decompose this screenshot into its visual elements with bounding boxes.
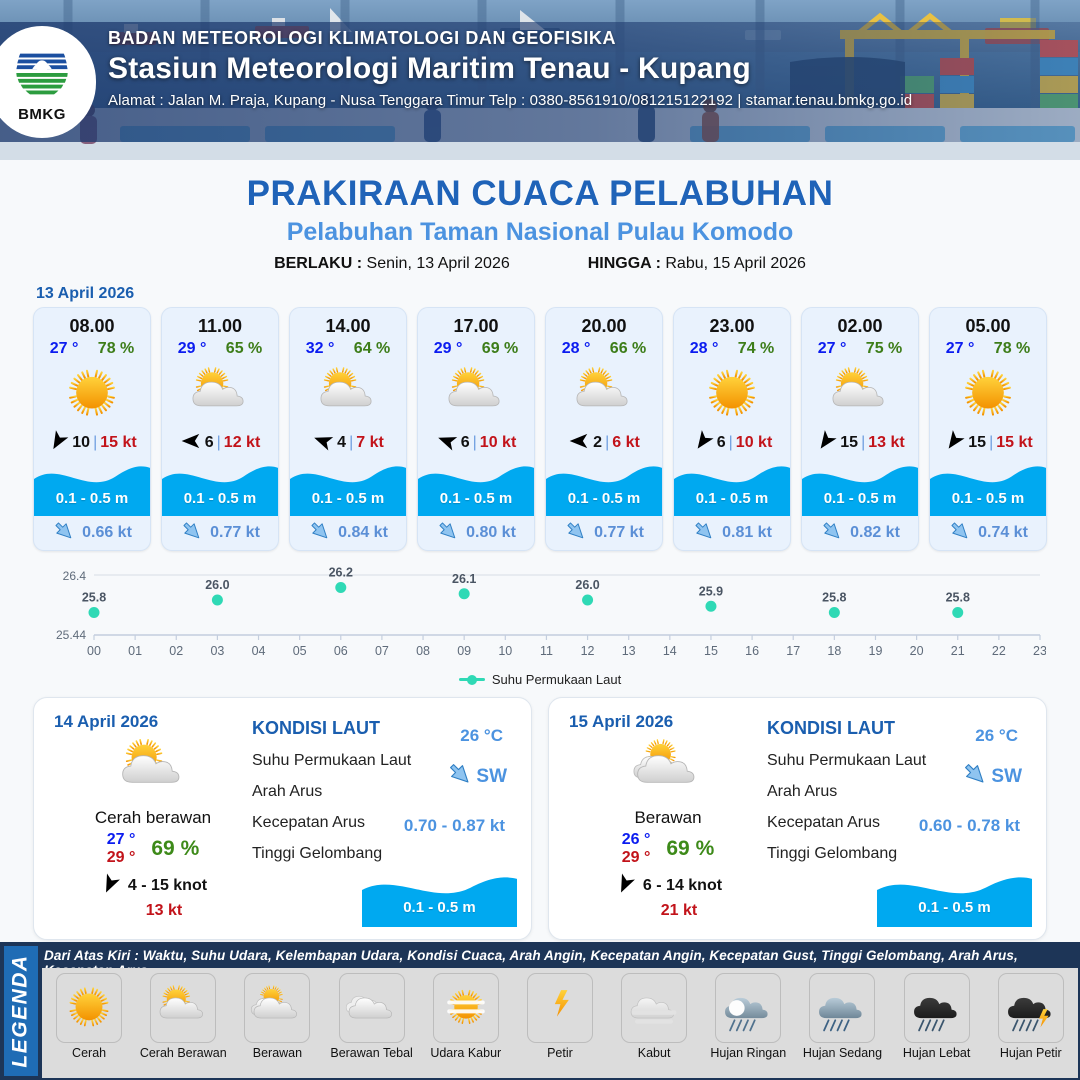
card-weather-cerah-icon <box>674 360 790 428</box>
card-wind: 6 | 12 kt <box>162 428 278 458</box>
card-humidity: 65 % <box>226 340 262 358</box>
card-wave-height: 0.1 - 0.5 m <box>290 490 406 507</box>
svg-text:00: 00 <box>87 644 101 658</box>
sea-current-direction-value: SW <box>991 766 1022 788</box>
current-direction-arrow-icon <box>692 519 716 548</box>
card-wave-height: 0.1 - 0.5 m <box>546 490 662 507</box>
card-temp-hum: 28 ° 74 % <box>674 337 790 358</box>
legend-item-label: Udara Kabur <box>421 1046 511 1060</box>
svg-text:06: 06 <box>334 644 348 658</box>
svg-text:05: 05 <box>293 644 307 658</box>
day-gust: 21 kt <box>569 902 767 920</box>
legenda-title: LEGENDA <box>9 954 33 1067</box>
card-temp-hum: 32 ° 64 % <box>290 337 406 358</box>
hourly-card: 05.00 27 ° 78 % 15 | 15 kt 0.1 - 0.5 m 0… <box>929 307 1047 551</box>
legend-item: Hujan Petir <box>986 973 1076 1060</box>
card-gust: 15 kt <box>100 434 136 452</box>
legend-kabut-icon <box>621 973 687 1043</box>
svg-text:25.44: 25.44 <box>56 628 86 642</box>
legend-item-label: Cerah <box>44 1046 134 1060</box>
svg-text:16: 16 <box>745 644 759 658</box>
card-wind: 6 | 10 kt <box>674 428 790 458</box>
svg-text:22: 22 <box>992 644 1006 658</box>
card-wave-zone: 0.1 - 0.5 m <box>674 460 790 516</box>
card-temperature: 27 ° <box>818 340 847 358</box>
card-current-speed: 0.82 kt <box>850 524 900 542</box>
card-wave-zone: 0.1 - 0.5 m <box>802 460 918 516</box>
banner-text-block: BADAN METEOROLOGI KLIMATOLOGI DAN GEOFIS… <box>108 28 912 109</box>
card-current-speed: 0.77 kt <box>594 524 644 542</box>
day-temp-range: 27 ° 29 ° <box>107 831 136 867</box>
current-direction-arrow-icon <box>820 519 844 548</box>
sea-conditions: KONDISI LAUT Suhu Permukaan Laut Arah Ar… <box>767 698 1046 939</box>
svg-text:19: 19 <box>869 644 883 658</box>
legend-udara-kabur-icon <box>433 973 499 1043</box>
card-current: 0.81 kt <box>674 516 790 550</box>
valid-to: HINGGA : Rabu, 15 April 2026 <box>588 255 806 273</box>
card-separator: | <box>217 434 221 452</box>
day-temp-min: 26 ° <box>622 831 651 849</box>
wind-direction-arrow-icon <box>943 430 965 457</box>
svg-text:26.0: 26.0 <box>205 578 229 592</box>
card-wind-speed: 6 <box>205 434 214 452</box>
svg-text:25.9: 25.9 <box>699 584 723 598</box>
card-wind-speed: 15 <box>840 434 858 452</box>
svg-text:12: 12 <box>581 644 595 658</box>
card-temp-hum: 27 ° 78 % <box>930 337 1046 358</box>
card-separator: | <box>989 434 993 452</box>
legend-item: Petir <box>515 973 605 1060</box>
hourly-forecast-row: 08.00 27 ° 78 % 10 | 15 kt 0.1 - 0.5 m 0… <box>0 307 1080 551</box>
svg-text:18: 18 <box>827 644 841 658</box>
valid-from: BERLAKU : Senin, 13 April 2026 <box>274 255 510 273</box>
header-banner: BMKG BADAN METEOROLOGI KLIMATOLOGI DAN G… <box>0 0 1080 160</box>
card-temperature: 28 ° <box>562 340 591 358</box>
sst-legend-label: Suhu Permukaan Laut <box>492 672 621 687</box>
svg-text:17: 17 <box>786 644 800 658</box>
card-time: 17.00 <box>418 308 534 337</box>
card-time: 08.00 <box>34 308 150 337</box>
legend-item: Hujan Ringan <box>703 973 793 1060</box>
card-temperature: 28 ° <box>690 340 719 358</box>
sea-row-wave-label: Tinggi Gelombang <box>767 845 1030 863</box>
card-gust: 7 kt <box>356 434 384 452</box>
card-weather-cerah-berawan-icon <box>546 360 662 428</box>
card-current-speed: 0.77 kt <box>210 524 260 542</box>
hourly-card: 11.00 29 ° 65 % 6 | 12 kt 0.1 - 0.5 m 0.… <box>161 307 279 551</box>
card-gust: 12 kt <box>224 434 260 452</box>
validity-row: BERLAKU : Senin, 13 April 2026 HINGGA : … <box>0 255 1080 273</box>
card-wind: 4 | 7 kt <box>290 428 406 458</box>
card-wind: 15 | 13 kt <box>802 428 918 458</box>
card-separator: | <box>473 434 477 452</box>
legend-cerah-berawan-icon <box>150 973 216 1043</box>
svg-text:13: 13 <box>622 644 636 658</box>
card-temperature: 32 ° <box>306 340 335 358</box>
card-temperature: 29 ° <box>178 340 207 358</box>
wind-direction-arrow-icon <box>614 873 636 900</box>
legend-item: Berawan Tebal <box>327 973 417 1060</box>
card-wave-height: 0.1 - 0.5 m <box>418 490 534 507</box>
valid-to-label: HINGGA : <box>588 255 661 272</box>
bmkg-logo-text: BMKG <box>18 106 66 123</box>
svg-text:25.8: 25.8 <box>946 591 970 605</box>
day-condition: Cerah berawan <box>54 808 252 828</box>
current-direction-arrow-icon <box>308 519 332 548</box>
card-wind-speed: 15 <box>968 434 986 452</box>
bmkg-logo-icon <box>11 41 73 105</box>
wind-direction-arrow-icon <box>180 430 202 457</box>
card-current: 0.77 kt <box>546 516 662 550</box>
card-current-speed: 0.74 kt <box>978 524 1028 542</box>
current-direction-arrow-icon <box>436 519 460 548</box>
legend-item: Hujan Sedang <box>797 973 887 1060</box>
card-time: 23.00 <box>674 308 790 337</box>
wind-direction-arrow-icon <box>692 430 714 457</box>
card-current: 0.74 kt <box>930 516 1046 550</box>
svg-text:03: 03 <box>210 644 224 658</box>
card-current-speed: 0.84 kt <box>338 524 388 542</box>
sea-wave-box: 0.1 - 0.5 m <box>877 871 1032 923</box>
day-date: 15 April 2026 <box>569 712 767 732</box>
legend-item: Hujan Lebat <box>892 973 982 1060</box>
sea-conditions: KONDISI LAUT Suhu Permukaan Laut Arah Ar… <box>252 698 531 939</box>
wind-direction-arrow-icon <box>99 873 121 900</box>
sea-current-speed-value: 0.70 - 0.87 kt <box>404 816 505 836</box>
card-weather-cerah-icon <box>930 360 1046 428</box>
svg-text:26.4: 26.4 <box>63 569 87 583</box>
hourly-card: 17.00 29 ° 69 % 6 | 10 kt 0.1 - 0.5 m 0.… <box>417 307 535 551</box>
legend-item: Kabut <box>609 973 699 1060</box>
svg-text:26.1: 26.1 <box>452 572 476 586</box>
svg-text:08: 08 <box>416 644 430 658</box>
card-wave-height: 0.1 - 0.5 m <box>674 490 790 507</box>
legend-berawan-icon <box>244 973 310 1043</box>
card-wave-zone: 0.1 - 0.5 m <box>930 460 1046 516</box>
svg-text:25.8: 25.8 <box>82 591 106 605</box>
card-humidity: 75 % <box>866 340 902 358</box>
legend-item-label: Hujan Lebat <box>892 1046 982 1060</box>
legend-cerah-icon <box>56 973 122 1043</box>
card-current: 0.84 kt <box>290 516 406 550</box>
day-gust: 13 kt <box>54 902 252 920</box>
card-wave-zone: 0.1 - 0.5 m <box>546 460 662 516</box>
legend-item-label: Hujan Petir <box>986 1046 1076 1060</box>
hourly-card: 14.00 32 ° 64 % 4 | 7 kt 0.1 - 0.5 m 0.8… <box>289 307 407 551</box>
card-wave-zone: 0.1 - 0.5 m <box>418 460 534 516</box>
legend-item-label: Hujan Sedang <box>797 1046 887 1060</box>
card-humidity: 78 % <box>994 340 1030 358</box>
legend-item: Udara Kabur <box>421 973 511 1060</box>
card-humidity: 69 % <box>482 340 518 358</box>
card-weather-cerah-berawan-icon <box>802 360 918 428</box>
card-gust: 10 kt <box>480 434 516 452</box>
svg-text:02: 02 <box>169 644 183 658</box>
sea-row-wave-label: Tinggi Gelombang <box>252 845 515 863</box>
sst-chart: 26.425.440001020304050607080910111213141… <box>34 565 1046 670</box>
day-weather-cerah-berawan-icon <box>54 734 252 804</box>
card-wave-height: 0.1 - 0.5 m <box>802 490 918 507</box>
card-humidity: 78 % <box>98 340 134 358</box>
legend-hujan-petir-icon <box>998 973 1064 1043</box>
current-direction-arrow-icon <box>564 519 588 548</box>
page-subtitle: Pelabuhan Taman Nasional Pulau Komodo <box>0 218 1080 247</box>
sea-wave-height: 0.1 - 0.5 m <box>362 899 517 916</box>
current-direction-arrow-icon <box>961 760 989 794</box>
card-weather-cerah-berawan-icon <box>290 360 406 428</box>
svg-text:23: 23 <box>1033 644 1046 658</box>
wind-direction-arrow-icon <box>312 430 334 457</box>
card-gust: 10 kt <box>736 434 772 452</box>
card-wind-speed: 6 <box>461 434 470 452</box>
card-separator: | <box>349 434 353 452</box>
card-current: 0.77 kt <box>162 516 278 550</box>
card-wave-height: 0.1 - 0.5 m <box>162 490 278 507</box>
card-time: 02.00 <box>802 308 918 337</box>
svg-text:04: 04 <box>252 644 266 658</box>
day-humidity: 69 % <box>666 837 714 861</box>
sea-current-direction: SW <box>446 760 507 794</box>
station-address: Alamat : Jalan M. Praja, Kupang - Nusa T… <box>108 92 912 109</box>
svg-text:21: 21 <box>951 644 965 658</box>
svg-text:11: 11 <box>540 644 553 658</box>
svg-text:09: 09 <box>457 644 471 658</box>
current-direction-arrow-icon <box>52 519 76 548</box>
legend-item-label: Petir <box>515 1046 605 1060</box>
sea-current-speed-value: 0.60 - 0.78 kt <box>919 816 1020 836</box>
daily-forecast-panels: 14 April 2026 Cerah berawan 27 ° 29 ° 69… <box>0 687 1080 940</box>
card-wind: 6 | 10 kt <box>418 428 534 458</box>
card-wave-zone: 0.1 - 0.5 m <box>34 460 150 516</box>
card-gust: 13 kt <box>868 434 904 452</box>
card-gust: 15 kt <box>996 434 1032 452</box>
card-current: 0.66 kt <box>34 516 150 550</box>
day-humidity: 69 % <box>151 837 199 861</box>
sst-chart-legend: Suhu Permukaan Laut <box>0 672 1080 687</box>
svg-text:07: 07 <box>375 644 389 658</box>
day-temp-range: 26 ° 29 ° <box>622 831 651 867</box>
card-time: 05.00 <box>930 308 1046 337</box>
legend-item: Berawan <box>232 973 322 1060</box>
card-wind: 10 | 15 kt <box>34 428 150 458</box>
card-temperature: 27 ° <box>50 340 79 358</box>
hourly-date-label: 13 April 2026 <box>36 285 1080 303</box>
day-wind-range: 4 - 15 knot <box>128 877 207 895</box>
card-separator: | <box>729 434 733 452</box>
title-block: PRAKIRAAN CUACA PELABUHAN Pelabuhan Tama… <box>0 160 1080 273</box>
hourly-card: 08.00 27 ° 78 % 10 | 15 kt 0.1 - 0.5 m 0… <box>33 307 151 551</box>
svg-text:15: 15 <box>704 644 718 658</box>
day-temp-min: 27 ° <box>107 831 136 849</box>
svg-text:25.8: 25.8 <box>822 591 846 605</box>
day-wind: 4 - 15 knot <box>54 873 252 900</box>
card-wave-zone: 0.1 - 0.5 m <box>162 460 278 516</box>
wind-direction-arrow-icon <box>815 430 837 457</box>
card-current: 0.80 kt <box>418 516 534 550</box>
svg-text:26.0: 26.0 <box>575 578 599 592</box>
day-wind-range: 6 - 14 knot <box>643 877 722 895</box>
valid-from-label: BERLAKU : <box>274 255 362 272</box>
card-gust: 6 kt <box>612 434 640 452</box>
sea-sst-value: 26 °C <box>975 726 1018 746</box>
card-temperature: 29 ° <box>434 340 463 358</box>
day-temps: 27 ° 29 ° 69 % <box>54 831 252 867</box>
card-temp-hum: 27 ° 75 % <box>802 337 918 358</box>
card-temperature: 27 ° <box>946 340 975 358</box>
legend-item: Cerah Berawan <box>138 973 228 1060</box>
sst-chart-svg: 26.425.440001020304050607080910111213141… <box>34 565 1046 670</box>
daily-forecast-panel: 15 April 2026 Berawan 26 ° 29 ° 69 % 6 -… <box>548 697 1047 940</box>
card-separator: | <box>93 434 97 452</box>
wind-direction-arrow-icon <box>436 430 458 457</box>
svg-text:01: 01 <box>128 644 142 658</box>
sea-current-direction: SW <box>961 760 1022 794</box>
day-temps: 26 ° 29 ° 69 % <box>569 831 767 867</box>
card-separator: | <box>861 434 865 452</box>
card-weather-cerah-berawan-icon <box>418 360 534 428</box>
valid-to-value: Rabu, 15 April 2026 <box>665 255 806 272</box>
day-temp-max: 29 ° <box>107 849 136 867</box>
day-date: 14 April 2026 <box>54 712 252 732</box>
day-condition: Berawan <box>569 808 767 828</box>
legend-item-label: Hujan Ringan <box>703 1046 793 1060</box>
card-wave-height: 0.1 - 0.5 m <box>930 490 1046 507</box>
page-title: PRAKIRAAN CUACA PELABUHAN <box>0 174 1080 214</box>
card-time: 14.00 <box>290 308 406 337</box>
card-wind-speed: 2 <box>593 434 602 452</box>
legenda-vertical-bar: LEGENDA <box>4 946 38 1076</box>
day-temp-max: 29 ° <box>622 849 651 867</box>
sea-current-direction-value: SW <box>476 766 507 788</box>
card-wind-speed: 6 <box>717 434 726 452</box>
day-summary: 15 April 2026 Berawan 26 ° 29 ° 69 % 6 -… <box>549 698 767 939</box>
organization-name: BADAN METEOROLOGI KLIMATOLOGI DAN GEOFIS… <box>108 28 912 49</box>
svg-text:26.2: 26.2 <box>329 566 353 580</box>
card-time: 20.00 <box>546 308 662 337</box>
svg-text:10: 10 <box>498 644 512 658</box>
card-current-speed: 0.66 kt <box>82 524 132 542</box>
day-summary: 14 April 2026 Cerah berawan 27 ° 29 ° 69… <box>34 698 252 939</box>
sea-wave-height: 0.1 - 0.5 m <box>877 899 1032 916</box>
legend-items-row: Cerah Cerah Berawan Berawan Berawan Teba… <box>42 968 1078 1078</box>
legend-hujan-ringan-icon <box>715 973 781 1043</box>
current-direction-arrow-icon <box>180 519 204 548</box>
card-temp-hum: 29 ° 69 % <box>418 337 534 358</box>
card-wind-speed: 4 <box>337 434 346 452</box>
legend-item-label: Berawan Tebal <box>327 1046 417 1060</box>
card-current-speed: 0.81 kt <box>722 524 772 542</box>
card-wave-zone: 0.1 - 0.5 m <box>290 460 406 516</box>
svg-text:20: 20 <box>910 644 924 658</box>
card-temp-hum: 28 ° 66 % <box>546 337 662 358</box>
card-humidity: 64 % <box>354 340 390 358</box>
current-direction-arrow-icon <box>948 519 972 548</box>
card-weather-cerah-berawan-icon <box>162 360 278 428</box>
legend-item-label: Kabut <box>609 1046 699 1060</box>
card-humidity: 66 % <box>610 340 646 358</box>
card-wind: 2 | 6 kt <box>546 428 662 458</box>
card-wind: 15 | 15 kt <box>930 428 1046 458</box>
card-current-speed: 0.80 kt <box>466 524 516 542</box>
hourly-card: 02.00 27 ° 75 % 15 | 13 kt 0.1 - 0.5 m 0… <box>801 307 919 551</box>
wind-direction-arrow-icon <box>47 430 69 457</box>
card-wind-speed: 10 <box>72 434 90 452</box>
legend-item-label: Berawan <box>232 1046 322 1060</box>
card-separator: | <box>605 434 609 452</box>
card-weather-cerah-icon <box>34 360 150 428</box>
card-time: 11.00 <box>162 308 278 337</box>
hourly-card: 20.00 28 ° 66 % 2 | 6 kt 0.1 - 0.5 m 0.7… <box>545 307 663 551</box>
card-humidity: 74 % <box>738 340 774 358</box>
sst-legend-marker-icon <box>459 678 485 681</box>
legend-strip: LEGENDA Dari Atas Kiri : Waktu, Suhu Uda… <box>0 942 1080 1080</box>
card-wave-height: 0.1 - 0.5 m <box>34 490 150 507</box>
current-direction-arrow-icon <box>446 760 474 794</box>
valid-from-value: Senin, 13 April 2026 <box>367 255 510 272</box>
wind-direction-arrow-icon <box>568 430 590 457</box>
day-weather-berawan-icon <box>569 734 767 804</box>
daily-forecast-panel: 14 April 2026 Cerah berawan 27 ° 29 ° 69… <box>33 697 532 940</box>
legend-berawan-tebal-icon <box>339 973 405 1043</box>
legend-hujan-lebat-icon <box>904 973 970 1043</box>
day-wind: 6 - 14 knot <box>569 873 767 900</box>
hourly-card: 23.00 28 ° 74 % 6 | 10 kt 0.1 - 0.5 m 0.… <box>673 307 791 551</box>
card-temp-hum: 27 ° 78 % <box>34 337 150 358</box>
legend-item: Cerah <box>44 973 134 1060</box>
station-name: Stasiun Meteorologi Maritim Tenau - Kupa… <box>108 52 912 86</box>
sea-wave-box: 0.1 - 0.5 m <box>362 871 517 923</box>
svg-text:14: 14 <box>663 644 677 658</box>
card-temp-hum: 29 ° 65 % <box>162 337 278 358</box>
card-current: 0.82 kt <box>802 516 918 550</box>
legend-hujan-sedang-icon <box>809 973 875 1043</box>
legend-petir-icon <box>527 973 593 1043</box>
legend-item-label: Cerah Berawan <box>138 1046 228 1060</box>
sea-sst-value: 26 °C <box>460 726 503 746</box>
